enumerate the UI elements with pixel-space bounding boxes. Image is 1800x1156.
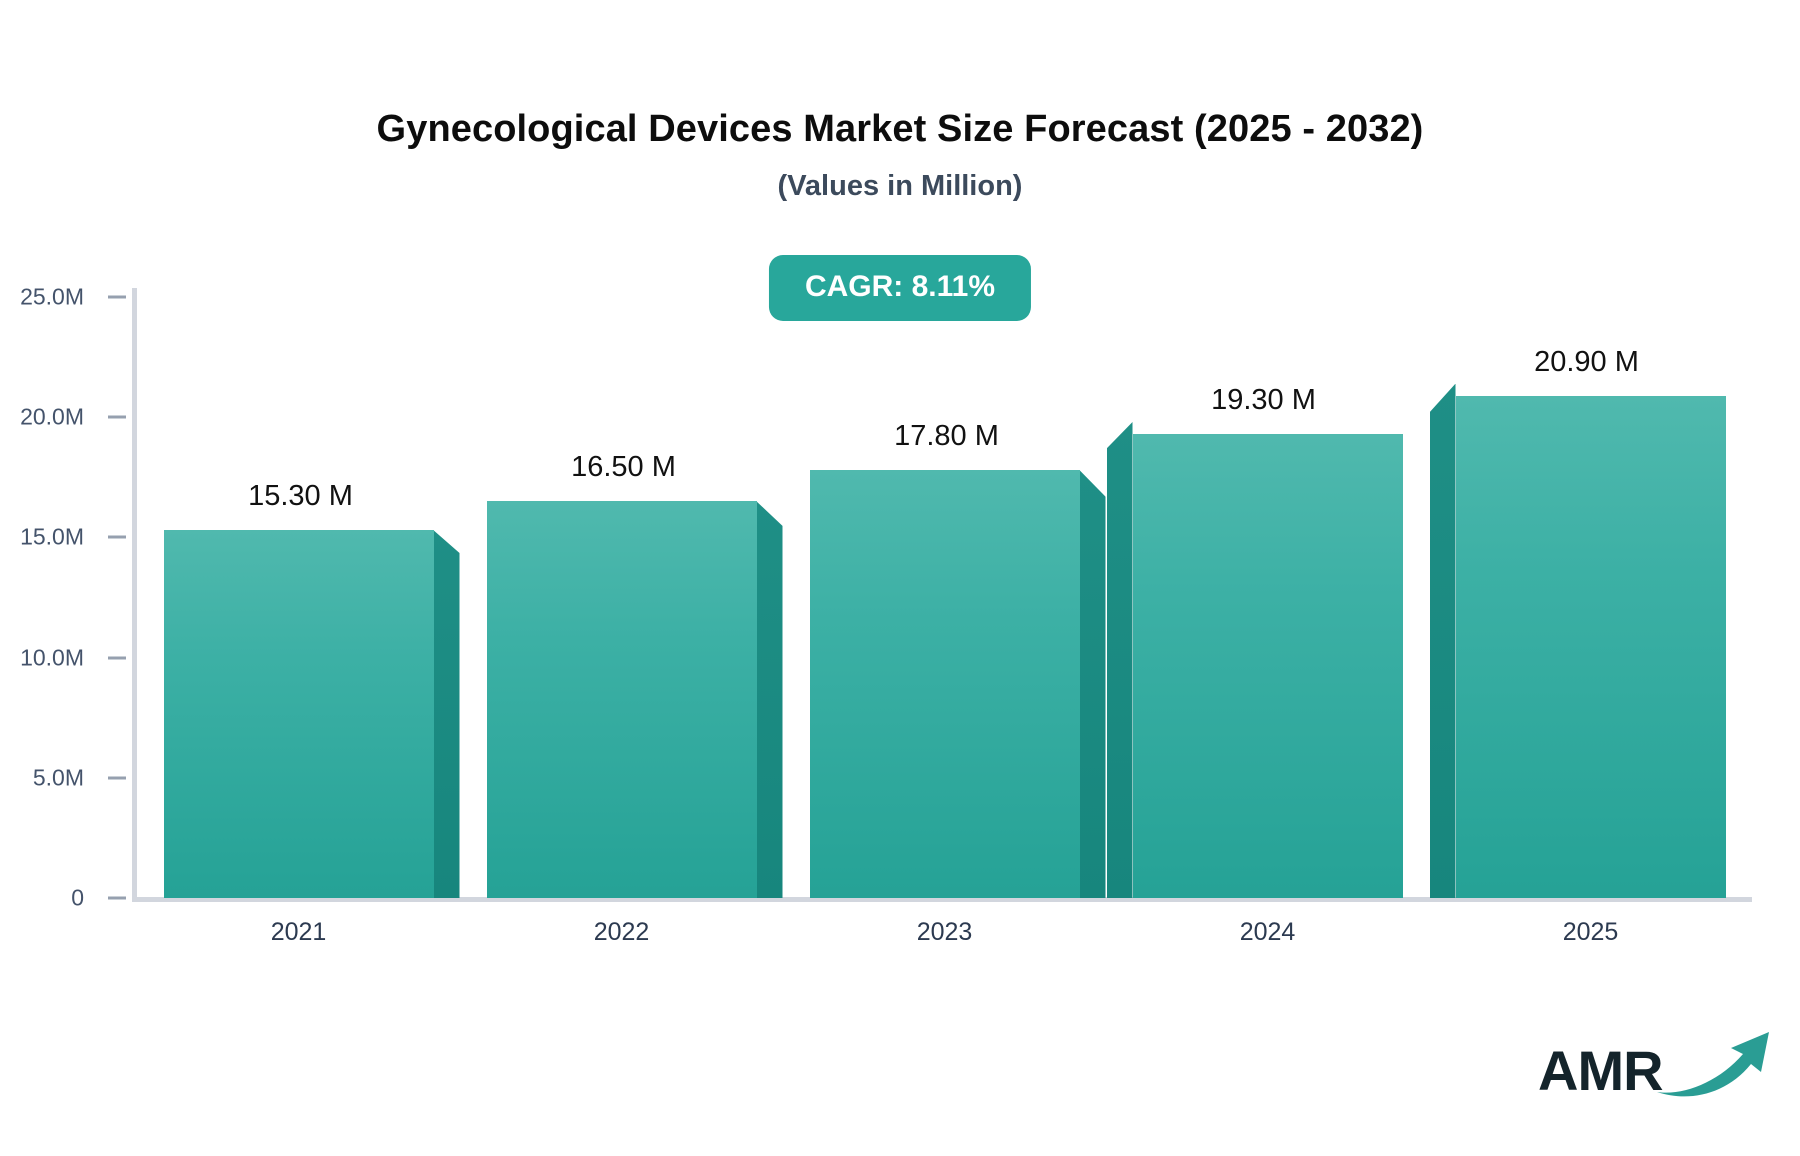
y-axis-line: [132, 288, 137, 902]
bar-value-label: 20.90 M: [1417, 346, 1757, 379]
bar-2024[interactable]: [1133, 434, 1403, 898]
bar-2025[interactable]: [1456, 396, 1726, 898]
y-axis-tick-mark: [108, 656, 126, 659]
growth-arrow-icon: [1653, 1026, 1773, 1103]
x-axis-tick-label: 2022: [462, 918, 782, 947]
y-axis-tick-label: 25.0M: [0, 284, 84, 311]
bar-3d-side: [434, 530, 460, 898]
y-axis-tick-mark: [108, 296, 126, 299]
y-axis-tick-mark: [108, 416, 126, 419]
bar-value-label: 15.30 M: [131, 480, 471, 513]
bar-value-label: 17.80 M: [777, 420, 1117, 453]
bar-2021[interactable]: [164, 530, 434, 898]
bar-value-label: 16.50 M: [454, 451, 794, 484]
plot-area: 05.0M10.0M15.0M20.0M25.0M15.30 M202116.5…: [0, 0, 1800, 1156]
x-axis-tick-label: 2023: [785, 918, 1105, 947]
bar-3d-side: [1430, 384, 1456, 898]
x-axis-tick-label: 2025: [1431, 918, 1751, 947]
y-axis-tick-label: 10.0M: [0, 644, 84, 671]
amr-logo-text: AMR: [1538, 1043, 1663, 1099]
y-axis-tick-label: 0: [0, 885, 84, 912]
y-axis-tick-mark: [108, 897, 126, 900]
bar-3d-side: [757, 501, 783, 898]
y-axis-tick-mark: [108, 776, 126, 779]
chart-page: Gynecological Devices Market Size Foreca…: [0, 0, 1800, 1156]
y-axis-tick-label: 5.0M: [0, 764, 84, 791]
x-axis-tick-label: 2021: [139, 918, 459, 947]
bar-3d-side: [1107, 422, 1133, 898]
bar-2022[interactable]: [487, 501, 757, 898]
bar-3d-side: [1080, 470, 1106, 898]
y-axis-tick-label: 20.0M: [0, 404, 84, 431]
bar-2023[interactable]: [810, 470, 1080, 898]
y-axis-tick-label: 15.0M: [0, 524, 84, 551]
bar-value-label: 19.30 M: [1094, 384, 1434, 417]
amr-logo: AMR: [1538, 1026, 1773, 1099]
y-axis-tick-mark: [108, 536, 126, 539]
x-axis-tick-label: 2024: [1108, 918, 1428, 947]
